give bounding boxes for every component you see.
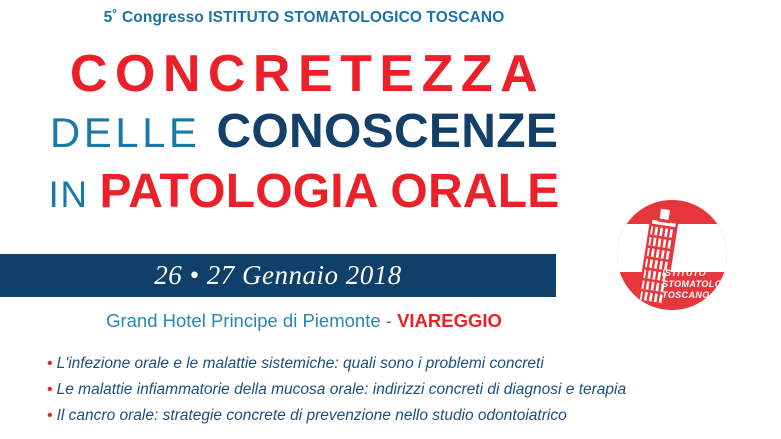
istituto-stomatologico-toscano-logo: ISTITUTO STOMATOLOGICO TOSCANO bbox=[613, 196, 731, 314]
title-line-in-patologia-orale: INPATOLOGIA ORALE bbox=[0, 168, 608, 226]
logo-wordmark-line1: ISTITUTO bbox=[662, 268, 706, 278]
venue-line: Grand Hotel Principe di Piemonte - VIARE… bbox=[0, 310, 608, 332]
logo-wordmark-line2: STOMATOLOGICO bbox=[662, 279, 731, 289]
list-item: •L'infezione orale e le malattie sistemi… bbox=[47, 351, 747, 377]
venue-city: VIAREGGIO bbox=[397, 310, 502, 331]
poster-title-block: CONCRETEZZA DELLECONOSCENZE INPATOLOGIA … bbox=[0, 48, 608, 226]
title-word-patologia-orale: PATOLOGIA ORALE bbox=[100, 165, 560, 218]
title-line-delle-conoscenze: DELLECONOSCENZE bbox=[0, 108, 608, 167]
title-line-concretezza: CONCRETEZZA bbox=[7, 48, 608, 106]
logo-graphic: ISTITUTO STOMATOLOGICO TOSCANO bbox=[613, 196, 731, 314]
bullet-dot-icon: • bbox=[47, 355, 53, 372]
list-item: •Le malattie infiammatorie della mucosa … bbox=[47, 377, 747, 403]
bullet-dot-icon: • bbox=[47, 381, 53, 398]
title-word-conoscenze: CONOSCENZE bbox=[216, 105, 558, 158]
title-word-delle: DELLE bbox=[50, 109, 201, 156]
list-item-label: Il cancro orale: strategie concrete di p… bbox=[57, 407, 567, 424]
list-item-label: Le malattie infiammatorie della mucosa o… bbox=[57, 381, 626, 398]
topics-list: •L'infezione orale e le malattie sistemi… bbox=[47, 351, 747, 429]
list-item: •Il cancro orale: strategie concrete di … bbox=[47, 403, 747, 429]
bullet-dot-icon: • bbox=[47, 407, 53, 424]
venue-place: Grand Hotel Principe di Piemonte - bbox=[106, 310, 397, 331]
date-banner: 26 • 27 Gennaio 2018 bbox=[0, 254, 556, 297]
conference-poster: 5˚ Congresso ISTITUTO STOMATOLOGICO TOSC… bbox=[0, 0, 781, 439]
title-word-in: IN bbox=[49, 174, 89, 215]
congress-eyebrow-text: 5˚ Congresso ISTITUTO STOMATOLOGICO TOSC… bbox=[0, 9, 608, 27]
date-text: 26 • 27 Gennaio 2018 bbox=[154, 260, 401, 291]
logo-wordmark-line3: TOSCANO bbox=[662, 290, 710, 300]
list-item-label: L'infezione orale e le malattie sistemic… bbox=[57, 355, 544, 372]
